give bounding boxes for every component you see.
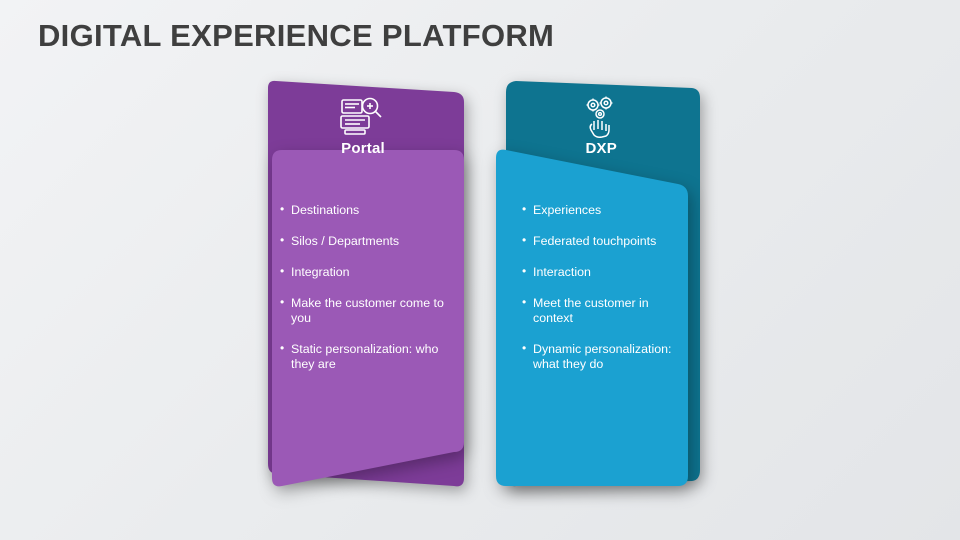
gears-hand-icon	[572, 94, 630, 140]
list-item: Experiences	[522, 203, 690, 218]
list-item: Interaction	[522, 265, 690, 280]
list-item: Integration	[280, 265, 448, 280]
card-dxp[interactable]: DXP Experiences Federated touchpoints In…	[492, 78, 702, 490]
dxp-heading: DXP	[496, 140, 706, 157]
portal-kiosk-icon	[334, 94, 392, 140]
card-portal[interactable]: Portal Destinations Silos / Departments …	[258, 78, 468, 490]
list-item: Static personalization: who they are	[280, 342, 448, 372]
portal-heading: Portal	[258, 140, 468, 157]
portal-bullet-list: Destinations Silos / Departments Integra…	[280, 203, 448, 388]
list-item: Make the customer come to you	[280, 296, 448, 326]
list-item: Meet the customer in context	[522, 296, 690, 326]
list-item: Dynamic personalization: what they do	[522, 342, 690, 372]
list-item: Destinations	[280, 203, 448, 218]
list-item: Federated touchpoints	[522, 234, 690, 249]
list-item: Silos / Departments	[280, 234, 448, 249]
page-title: DIGITAL EXPERIENCE PLATFORM	[38, 18, 554, 54]
dxp-bullet-list: Experiences Federated touchpoints Intera…	[522, 203, 690, 388]
slide-canvas: DIGITAL EXPERIENCE PLATFORM	[0, 0, 960, 540]
